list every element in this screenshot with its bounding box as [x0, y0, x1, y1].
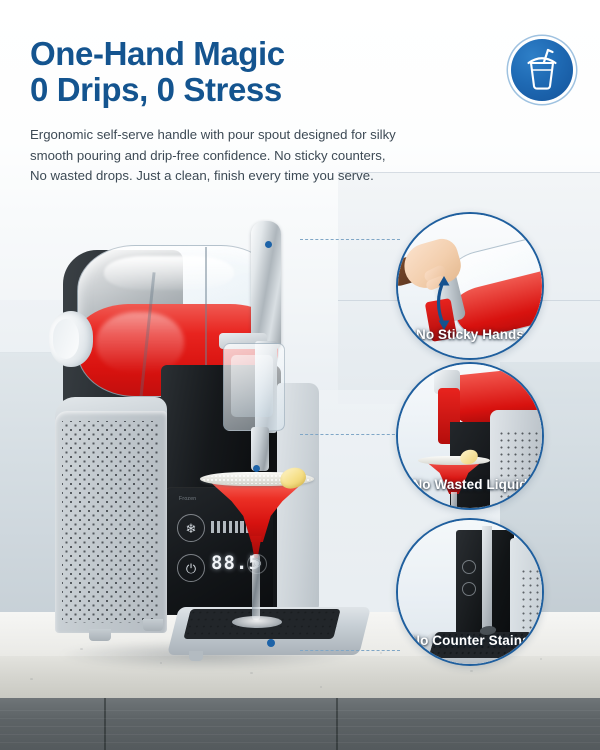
callout-label: No Counter Stains	[398, 633, 542, 648]
callout-badge-no-wasted-liquid[interactable]: No Wasted Liquid	[396, 362, 544, 510]
callout-badge-no-counter-stains[interactable]: No Counter Stains	[396, 518, 544, 666]
callout-connector-line-2	[300, 434, 400, 435]
tray-foot	[189, 651, 203, 661]
product-marketing-image: One-Hand Magic 0 Drips, 0 Stress Ergonom…	[0, 0, 600, 750]
page-subcopy: Ergonomic self-serve handle with pour sp…	[30, 125, 460, 187]
callout-label: No Wasted Liquid	[398, 477, 542, 492]
headline-line-1: One-Hand Magic	[30, 35, 285, 72]
subcopy-line-3: No wasted drops. Just a clean, finish ev…	[30, 166, 460, 187]
panel-hint-label: Frozen	[179, 496, 196, 502]
machine-foot	[143, 619, 163, 631]
perforated-side-vent	[55, 411, 167, 633]
margarita-glass-with-lemon	[198, 458, 316, 643]
callout-anchor-dot-handle	[265, 241, 272, 248]
callout-connector-line-3	[300, 650, 400, 651]
chrome-pour-handle[interactable]	[251, 221, 281, 349]
callout-connector-line-1	[300, 239, 400, 240]
page-headline: One-Hand Magic 0 Drips, 0 Stress	[30, 36, 480, 108]
vent-hole-pattern	[62, 421, 158, 623]
badge-power-icon	[462, 582, 476, 596]
subcopy-line-2: smooth pouring and drip-free confidence.…	[30, 146, 460, 167]
callout-label: No Sticky Hands	[398, 327, 542, 342]
headline-line-2: 0 Drips, 0 Stress	[30, 72, 480, 108]
badge-snowflake-icon	[462, 560, 476, 574]
hopper-knob[interactable]	[49, 311, 93, 367]
glass-foot	[232, 616, 282, 628]
subcopy-line-1: Ergonomic self-serve handle with pour sp…	[30, 125, 460, 146]
frozen-drink-cup-icon	[511, 39, 573, 101]
hopper-knob-inner	[53, 319, 79, 359]
machine-foot	[89, 629, 111, 641]
pour-spout-inner	[231, 355, 273, 417]
callout-badge-no-sticky-hands[interactable]: No Sticky Hands	[396, 212, 544, 360]
glass-stem	[252, 554, 260, 620]
